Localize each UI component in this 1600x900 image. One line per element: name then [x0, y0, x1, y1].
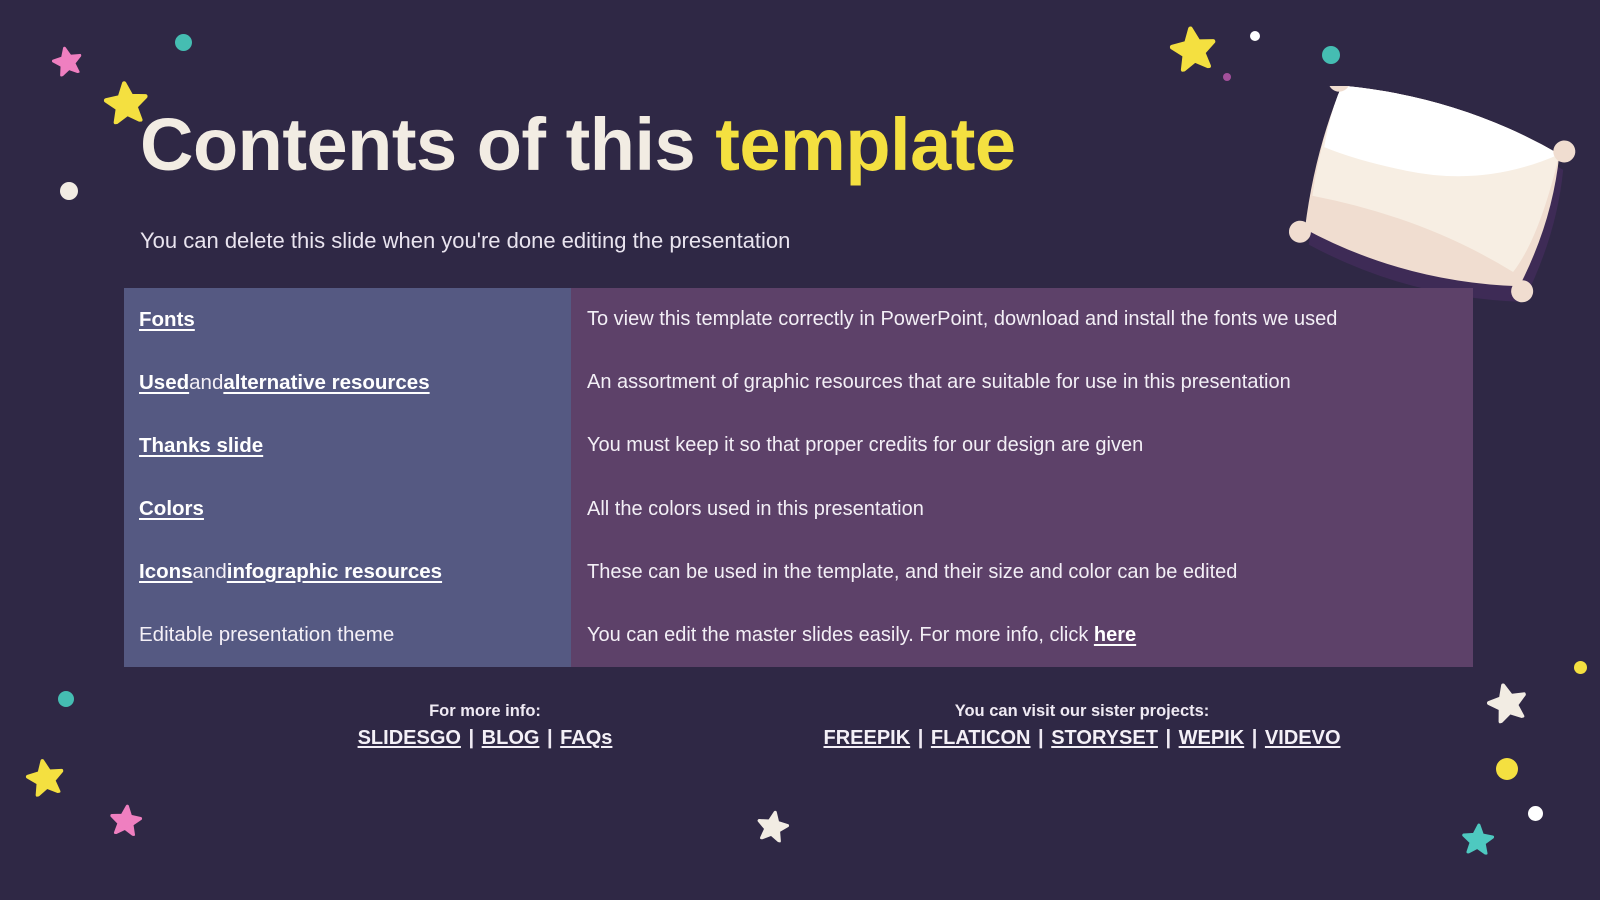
description-text-wrap: You must keep it so that proper credits … — [587, 434, 1143, 457]
table-row-topic: Fonts — [124, 288, 571, 351]
description-text-wrap: An assortment of graphic resources that … — [587, 371, 1291, 394]
footer-sister-projects-heading: You can visit our sister projects: — [822, 700, 1342, 722]
description-text: An assortment of graphic resources that … — [587, 371, 1291, 393]
topic-link[interactable]: Icons — [139, 560, 193, 584]
star-cream-bottom-center-icon — [754, 806, 791, 843]
contents-table: FontsUsed and alternative resourcesThank… — [124, 288, 1473, 667]
table-row-description: These can be used in the template, and t… — [571, 541, 1473, 604]
description-text-wrap: You can edit the master slides easily. F… — [587, 624, 1136, 647]
star-yellow-bottom-left-icon — [23, 754, 67, 798]
dot-cream-left — [60, 182, 78, 200]
dot-teal-top-right — [1322, 46, 1340, 64]
description-text: These can be used in the template, and t… — [587, 561, 1237, 583]
dot-teal-top-left — [175, 34, 192, 51]
footer-sister-projects: You can visit our sister projects: FREEP… — [822, 700, 1342, 752]
description-text: All the colors used in this presentation — [587, 498, 924, 520]
footer-link-freepik[interactable]: FREEPIK — [823, 727, 910, 749]
star-cream-bottom-right-icon — [1483, 677, 1531, 725]
topic-link[interactable]: alternative resources — [223, 371, 429, 395]
table-row-topic: Editable presentation theme — [124, 604, 571, 667]
page-title-main: Contents of this — [140, 103, 715, 186]
table-row-topic: Thanks slide — [124, 414, 571, 477]
footer-link-videvo[interactable]: VIDEVO — [1265, 727, 1341, 749]
dot-plum-top-right — [1223, 73, 1231, 81]
footer-link-blog[interactable]: BLOG — [482, 727, 540, 749]
footer-link-separator: | — [461, 727, 482, 749]
star-pink-top-left-icon — [49, 42, 85, 78]
dot-white-bottom-right — [1528, 806, 1543, 821]
footer-link-separator: | — [1244, 727, 1265, 749]
table-column-topics: FontsUsed and alternative resourcesThank… — [124, 288, 571, 667]
topic-text: Editable presentation theme — [139, 623, 394, 647]
topic-link[interactable]: Used — [139, 371, 189, 395]
footer-sister-projects-links: FREEPIK | FLATICON | STORYSET | WEPIK | … — [822, 724, 1342, 752]
dot-teal-bottom-left — [58, 691, 74, 707]
slide-canvas: Contents of this template You can delete… — [0, 0, 1600, 900]
table-row-description: An assortment of graphic resources that … — [571, 351, 1473, 414]
table-row-topic: Colors — [124, 477, 571, 540]
footer-more-info: For more info: SLIDESGO | BLOG | FAQs — [325, 700, 645, 752]
footer-link-separator: | — [539, 727, 560, 749]
dot-yellow-right — [1496, 758, 1518, 780]
footer-link-wepik[interactable]: WEPIK — [1179, 727, 1245, 749]
description-text-wrap: To view this template correctly in Power… — [587, 308, 1337, 331]
description-link[interactable]: here — [1094, 624, 1136, 646]
dot-white-top-right — [1250, 31, 1260, 41]
page-subtitle: You can delete this slide when you're do… — [140, 226, 790, 256]
footer-link-storyset[interactable]: STORYSET — [1051, 727, 1158, 749]
topic-text: and — [189, 371, 223, 395]
footer-link-separator: | — [1031, 727, 1052, 749]
star-teal-bottom-right-icon — [1461, 821, 1495, 855]
table-row-topic: Icons and infographic resources — [124, 541, 571, 604]
table-row-topic: Used and alternative resources — [124, 351, 571, 414]
footer-link-separator: | — [1158, 727, 1179, 749]
table-row-description: You can edit the master slides easily. F… — [571, 604, 1473, 667]
description-text-wrap: These can be used in the template, and t… — [587, 561, 1237, 584]
page-title-accent: template — [715, 103, 1015, 186]
footer-link-separator: | — [910, 727, 931, 749]
star-pink-bottom-left-icon — [108, 801, 143, 836]
topic-link[interactable]: Thanks slide — [139, 434, 263, 458]
table-row-description: You must keep it so that proper credits … — [571, 414, 1473, 477]
description-text: To view this template correctly in Power… — [587, 308, 1337, 330]
footer-more-info-links: SLIDESGO | BLOG | FAQs — [325, 724, 645, 752]
footer-link-flaticon[interactable]: FLATICON — [931, 727, 1031, 749]
footer-link-slidesgo[interactable]: SLIDESGO — [358, 727, 461, 749]
topic-link[interactable]: Fonts — [139, 308, 195, 332]
description-text-wrap: All the colors used in this presentation — [587, 498, 924, 521]
table-column-descriptions: To view this template correctly in Power… — [571, 288, 1473, 667]
footer-link-faqs[interactable]: FAQs — [560, 727, 612, 749]
dot-yellow-right-small — [1574, 661, 1587, 674]
topic-text: and — [193, 560, 227, 584]
footer-more-info-heading: For more info: — [325, 700, 645, 722]
table-row-description: To view this template correctly in Power… — [571, 288, 1473, 351]
table-row-description: All the colors used in this presentation — [571, 477, 1473, 540]
topic-link[interactable]: Colors — [139, 497, 204, 521]
star-yellow-top-right-icon — [1167, 21, 1219, 73]
topic-link[interactable]: infographic resources — [227, 560, 442, 584]
description-text: You can edit the master slides easily. F… — [587, 624, 1094, 646]
description-text: You must keep it so that proper credits … — [587, 434, 1143, 456]
page-title: Contents of this template — [140, 103, 1016, 187]
